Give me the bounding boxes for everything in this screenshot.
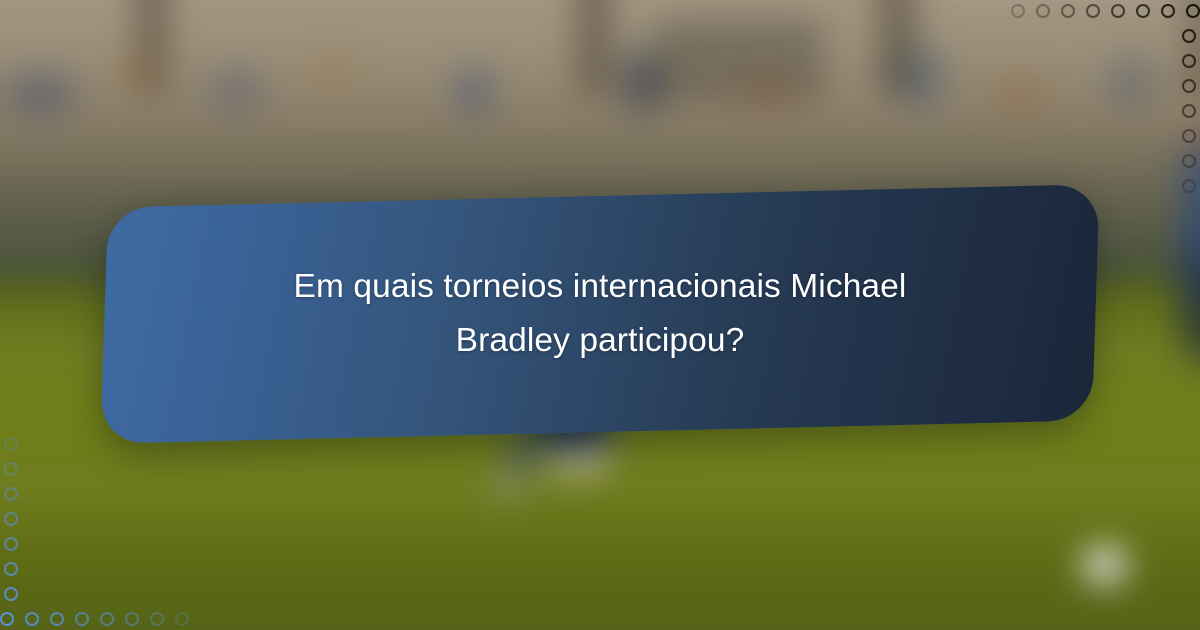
decor-dot bbox=[4, 537, 18, 551]
decor-dot bbox=[1036, 4, 1050, 18]
decor-dot bbox=[1111, 4, 1125, 18]
decor-dot bbox=[1182, 29, 1196, 43]
decor-dot bbox=[75, 612, 89, 626]
decor-dot bbox=[50, 612, 64, 626]
decor-dot bbox=[1086, 4, 1100, 18]
decor-dot bbox=[4, 437, 18, 451]
decor-dot bbox=[1182, 54, 1196, 68]
decor-dot bbox=[1182, 129, 1196, 143]
decor-dot bbox=[4, 462, 18, 476]
decor-dot bbox=[1186, 4, 1200, 18]
decor-dot bbox=[25, 612, 39, 626]
decor-dot bbox=[125, 612, 139, 626]
dot-grid-bottom-left bbox=[0, 420, 210, 630]
decor-dot bbox=[1061, 4, 1075, 18]
decor-dot bbox=[4, 562, 18, 576]
decor-dot bbox=[1182, 79, 1196, 93]
decor-dot bbox=[4, 587, 18, 601]
decor-dot bbox=[1182, 104, 1196, 118]
question-card-content: Em quais torneios internacionais Michael… bbox=[104, 196, 1096, 432]
question-card-canvas: Em quais torneios internacionais Michael… bbox=[0, 0, 1200, 630]
decor-dot bbox=[4, 487, 18, 501]
decor-dot bbox=[1136, 4, 1150, 18]
decor-dot bbox=[150, 612, 164, 626]
question-card: Em quais torneios internacionais Michael… bbox=[104, 196, 1096, 432]
decor-dot bbox=[175, 612, 189, 626]
decor-dot bbox=[1182, 154, 1196, 168]
dot-grid-top-right bbox=[990, 0, 1200, 210]
decor-dot bbox=[1011, 4, 1025, 18]
decor-dot bbox=[4, 512, 18, 526]
decor-dot bbox=[1182, 179, 1196, 193]
decor-dot bbox=[100, 612, 114, 626]
decor-dot bbox=[1161, 4, 1175, 18]
question-text: Em quais torneios internacionais Michael… bbox=[240, 260, 960, 369]
decor-dot bbox=[0, 612, 14, 626]
